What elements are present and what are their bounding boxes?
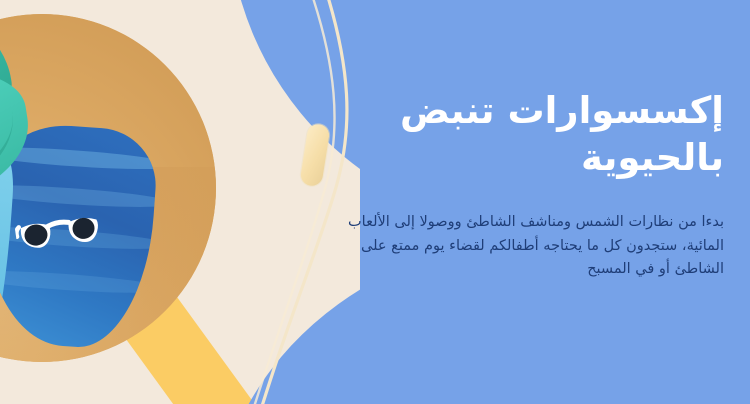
sand-toys — [0, 236, 24, 362]
page-title: إكسسوارات تنبض بالحيوية — [328, 88, 724, 181]
banner-copy: إكسسوارات تنبض بالحيوية بدءا من نظارات ا… — [328, 88, 724, 282]
promo-banner: إكسسوارات تنبض بالحيوية بدءا من نظارات ا… — [0, 0, 750, 404]
banner-subtitle: بدءا من نظارات الشمس ومناشف الشاطئ ووصول… — [328, 211, 724, 281]
beach-accessories-photo — [0, 14, 216, 362]
banner-visual-stage — [0, 0, 360, 404]
